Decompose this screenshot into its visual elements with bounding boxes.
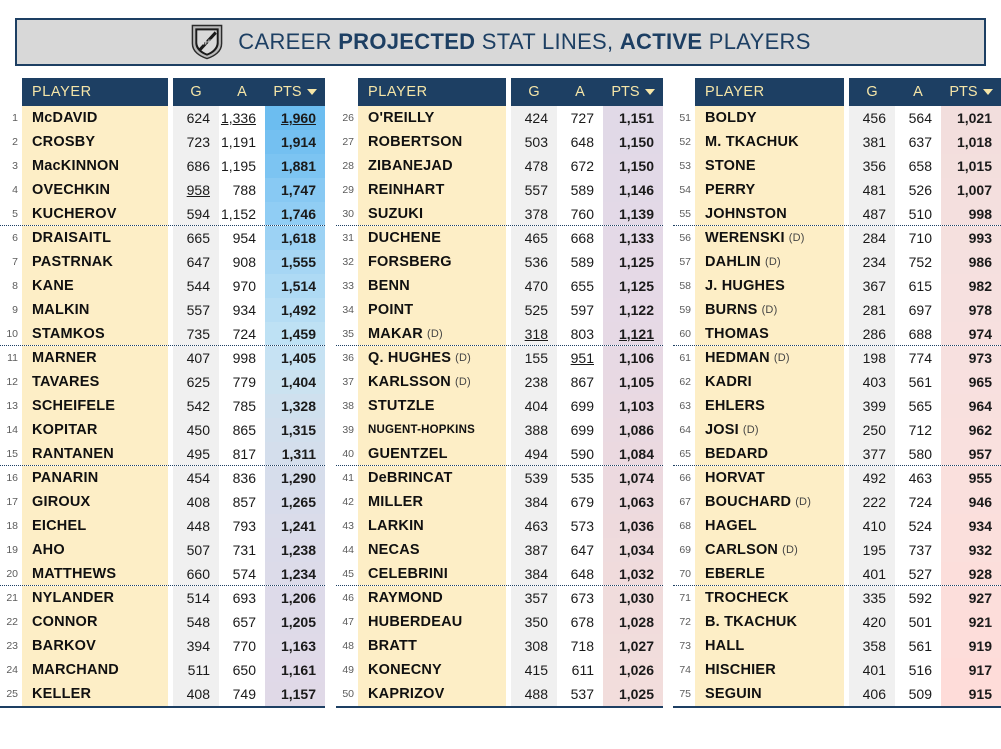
table-row[interactable]: 59BURNS(D)281697978 [673, 298, 1001, 322]
goals-value: 492 [863, 470, 886, 486]
points-cell: 1,007 [941, 178, 1001, 202]
player-name-cell[interactable]: HALL [695, 634, 844, 658]
column-header-g[interactable]: G [849, 84, 895, 100]
goals-value: 450 [187, 422, 210, 438]
table-row[interactable]: 15RANTANEN4958171,311 [0, 442, 325, 466]
goals-value: 958 [187, 182, 210, 198]
table-row[interactable]: 23BARKOV3947701,163 [0, 634, 325, 658]
table-row[interactable]: 11MARNER4079981,405 [0, 346, 325, 370]
points-value: 1,025 [619, 686, 654, 702]
stat-cells: 6861,1951,881 [173, 154, 325, 178]
table-row[interactable]: 20MATTHEWS6605741,234 [0, 562, 325, 586]
table-row[interactable]: 70EBERLE401527928 [673, 562, 1001, 586]
table-row[interactable]: 1McDAVID6241,3361,960 [0, 106, 325, 130]
table-row[interactable]: 33BENN4706551,125 [336, 274, 663, 298]
player-name-cell[interactable]: PERRY [695, 178, 844, 202]
points-value: 957 [969, 446, 992, 462]
row-rank: 72 [673, 610, 695, 634]
table-row[interactable]: 64JOSI(D)250712962 [673, 418, 1001, 442]
row-rank: 9 [0, 298, 22, 322]
table-row[interactable]: 48BRATT3087181,027 [336, 634, 663, 658]
goals-cell: 155 [511, 346, 557, 370]
player-name-cell[interactable]: BENN [358, 274, 506, 298]
table-row[interactable]: 68HAGEL410524934 [673, 514, 1001, 538]
player-name: BOLDY [705, 110, 757, 126]
assists-value: 770 [233, 638, 256, 654]
table-row[interactable]: 25KELLER4087491,157 [0, 682, 325, 706]
row-rank: 16 [0, 466, 22, 490]
player-name-cell[interactable]: STUTZLE [358, 394, 506, 418]
table-row[interactable]: 21NYLANDER5146931,206 [0, 586, 325, 610]
title-banner: NHL CAREER PROJECTED STAT LINES, ACTIVE … [15, 18, 986, 66]
table-row[interactable]: 51BOLDY4565641,021 [673, 106, 1001, 130]
assists-value: 803 [571, 326, 594, 342]
player-name-cell[interactable]: SEGUIN [695, 682, 844, 706]
stat-cells: 5146931,206 [173, 586, 325, 610]
caret-down-icon[interactable] [983, 89, 993, 95]
assists-cell: 785 [219, 394, 265, 418]
player-name-cell[interactable]: CONNOR [22, 610, 168, 634]
stat-cells: 195737932 [849, 538, 1001, 562]
assists-value: 712 [909, 422, 932, 438]
table-row[interactable]: 73HALL358561919 [673, 634, 1001, 658]
row-rank: 64 [673, 418, 695, 442]
points-cell: 1,747 [265, 178, 325, 202]
player-name-cell[interactable]: EHLERS [695, 394, 844, 418]
table-row[interactable]: 47HUBERDEAU3506781,028 [336, 610, 663, 634]
table-row[interactable]: 36Q. HUGHES(D)1559511,106 [336, 346, 663, 370]
player-name-cell[interactable]: Q. HUGHES(D) [358, 346, 506, 370]
player-name-cell[interactable]: RAYMOND [358, 586, 506, 610]
points-value: 1,106 [619, 350, 654, 366]
table-row[interactable]: 39NUGENT-HOPKINS3886991,086 [336, 418, 663, 442]
assists-value: 526 [909, 182, 932, 198]
player-name-cell[interactable]: KONECNY [358, 658, 506, 682]
assists-value: 463 [909, 470, 932, 486]
table-row[interactable]: 17GIROUX4088571,265 [0, 490, 325, 514]
table-row[interactable]: 8KANE5449701,514 [0, 274, 325, 298]
player-name: MARCHAND [32, 662, 119, 678]
assists-value: 561 [909, 638, 932, 654]
points-value: 1,459 [281, 326, 316, 342]
assists-cell: 697 [895, 298, 941, 322]
table-row[interactable]: 65BEDARD377580957 [673, 442, 1001, 466]
player-name-cell[interactable]: KARLSSON(D) [358, 370, 506, 394]
column-header-g[interactable]: G [173, 84, 219, 100]
player-name-cell[interactable]: DeBRINCAT [358, 466, 506, 490]
player-name: EBERLE [705, 566, 765, 582]
table-row[interactable]: 60THOMAS286688974 [673, 322, 1001, 346]
goals-cell: 594 [173, 202, 219, 225]
stat-cells: 9587881,747 [173, 178, 325, 202]
assists-cell: 712 [895, 418, 941, 442]
table-row[interactable]: 71TROCHECK335592927 [673, 586, 1001, 610]
player-name-cell[interactable]: HUBERDEAU [358, 610, 506, 634]
player-name-cell[interactable]: KAPRIZOV [358, 682, 506, 706]
column-header-g[interactable]: G [511, 84, 557, 100]
player-name-cell[interactable]: EBERLE [695, 562, 844, 585]
player-name: MALKIN [32, 302, 90, 318]
points-cell: 1,121 [603, 322, 663, 345]
assists-value: 524 [909, 518, 932, 534]
table-row[interactable]: 32FORSBERG5365891,125 [336, 250, 663, 274]
player-name: AHO [32, 542, 65, 558]
goals-cell: 335 [849, 586, 895, 610]
row-rank: 8 [0, 274, 22, 298]
player-name-cell[interactable]: KANE [22, 274, 168, 298]
goals-cell: 318 [511, 322, 557, 345]
table-row[interactable]: 55JOHNSTON487510998 [673, 202, 1001, 226]
assists-value: 592 [909, 590, 932, 606]
player-position: (D) [427, 328, 443, 340]
player-name: EICHEL [32, 518, 86, 534]
player-name: GIROUX [32, 494, 90, 510]
table-row[interactable]: 63EHLERS399565964 [673, 394, 1001, 418]
player-name-cell[interactable]: FORSBERG [358, 250, 506, 274]
player-name-cell[interactable]: B. TKACHUK [695, 610, 844, 634]
player-name-cell[interactable]: SUZUKI [358, 202, 506, 225]
table-row[interactable]: 3MacKINNON6861,1951,881 [0, 154, 325, 178]
player-name-cell[interactable]: KUCHEROV [22, 202, 168, 225]
table-row[interactable]: 44NECAS3876471,034 [336, 538, 663, 562]
player-name-cell[interactable]: DUCHENE [358, 226, 506, 250]
assists-cell: 524 [895, 514, 941, 538]
table-row[interactable]: 19AHO5077311,238 [0, 538, 325, 562]
goals-cell: 238 [511, 370, 557, 394]
row-rank: 42 [336, 490, 358, 514]
table-row[interactable]: 66HORVAT492463955 [673, 466, 1001, 490]
goals-cell: 381 [849, 130, 895, 154]
player-name-cell[interactable]: TROCHECK [695, 586, 844, 610]
player-name: NUGENT-HOPKINS [368, 424, 475, 436]
table-row[interactable]: 43LARKIN4635731,036 [336, 514, 663, 538]
player-name: HEDMAN [705, 350, 770, 366]
player-position: (D) [455, 352, 471, 364]
goals-value: 557 [525, 182, 548, 198]
points-cell: 1,086 [603, 418, 663, 442]
player-position: (D) [743, 424, 759, 436]
goals-value: 407 [187, 350, 210, 366]
points-value: 1,960 [281, 110, 316, 126]
table-header-row: PLAYERGAPTS [336, 78, 663, 106]
assists-value: 693 [233, 590, 256, 606]
column-header-a[interactable]: A [557, 84, 603, 100]
goals-value: 454 [187, 470, 210, 486]
column-header-player[interactable]: PLAYER [358, 78, 506, 106]
goals-value: 403 [863, 374, 886, 390]
assists-cell: 611 [557, 658, 603, 682]
player-name-cell[interactable]: M. TKACHUK [695, 130, 844, 154]
column-header-pts-label: PTS [273, 84, 301, 100]
points-value: 919 [969, 638, 992, 654]
points-value: 1,125 [619, 278, 654, 294]
stat-cells: 5449701,514 [173, 274, 325, 298]
points-value: 1,125 [619, 254, 654, 270]
goals-value: 415 [525, 662, 548, 678]
stat-cells: 420501921 [849, 610, 1001, 634]
assists-value: 565 [909, 398, 932, 414]
table-row[interactable]: 62KADRI403561965 [673, 370, 1001, 394]
player-name-cell[interactable]: MARNER [22, 346, 168, 370]
stat-headers: GAPTS [849, 78, 1001, 106]
player-name-cell[interactable]: KELLER [22, 682, 168, 706]
goals-cell: 495 [173, 442, 219, 465]
player-name-cell[interactable]: KADRI [695, 370, 844, 394]
table-row[interactable]: 14KOPITAR4508651,315 [0, 418, 325, 442]
assists-cell: 668 [557, 226, 603, 250]
column-header-pts[interactable]: PTS [603, 84, 663, 100]
player-name: DAHLIN [705, 254, 761, 270]
player-name-cell[interactable]: RANTANEN [22, 442, 168, 465]
player-name-cell[interactable]: PANARIN [22, 466, 168, 490]
player-name-cell[interactable]: LARKIN [358, 514, 506, 538]
player-name: KANE [32, 278, 74, 294]
points-value: 1,514 [281, 278, 316, 294]
player-name: KONECNY [368, 662, 442, 678]
assists-cell: 793 [219, 514, 265, 538]
table-row[interactable]: 67BOUCHARD(D)222724946 [673, 490, 1001, 514]
row-rank: 26 [336, 106, 358, 130]
player-name-cell[interactable]: JOHNSTON [695, 202, 844, 225]
table-row[interactable]: 29REINHART5575891,146 [336, 178, 663, 202]
player-name-cell[interactable]: MAKAR(D) [358, 322, 506, 345]
player-name-cell[interactable]: WERENSKI(D) [695, 226, 844, 250]
player-name: BURNS [705, 302, 758, 318]
player-name-cell[interactable]: MacKINNON [22, 154, 168, 178]
table-row[interactable]: 75SEGUIN406509915 [673, 682, 1001, 706]
points-cell: 1,103 [603, 394, 663, 418]
player-name-cell[interactable]: McDAVID [22, 106, 168, 130]
player-name-cell[interactable]: AHO [22, 538, 168, 562]
player-name-cell[interactable]: BRATT [358, 634, 506, 658]
stat-cells: 5427851,328 [173, 394, 325, 418]
assists-cell: 1,195 [219, 154, 265, 178]
points-cell: 928 [941, 562, 1001, 585]
player-name-cell[interactable]: BOLDY [695, 106, 844, 130]
column-header-a[interactable]: A [219, 84, 265, 100]
table-row[interactable]: 52M. TKACHUK3816371,018 [673, 130, 1001, 154]
player-name-cell[interactable]: STAMKOS [22, 322, 168, 345]
row-rank: 24 [0, 658, 22, 682]
player-name-cell[interactable]: TAVARES [22, 370, 168, 394]
points-cell: 919 [941, 634, 1001, 658]
points-cell: 1,105 [603, 370, 663, 394]
player-name-cell[interactable]: KOPITAR [22, 418, 168, 442]
player-name-cell[interactable]: MILLER [358, 490, 506, 514]
table-row[interactable]: 61HEDMAN(D)198774973 [673, 346, 1001, 370]
goals-value: 394 [187, 638, 210, 654]
row-rank: 62 [673, 370, 695, 394]
table-row[interactable]: 72B. TKACHUK420501921 [673, 610, 1001, 634]
column-header-player[interactable]: PLAYER [22, 78, 168, 106]
player-name-cell[interactable]: MATTHEWS [22, 562, 168, 585]
goals-value: 234 [863, 254, 886, 270]
goals-cell: 403 [849, 370, 895, 394]
table-row[interactable]: 2CROSBY7231,1911,914 [0, 130, 325, 154]
table-row[interactable]: 13SCHEIFELE5427851,328 [0, 394, 325, 418]
table-row[interactable]: 40GUENTZEL4945901,084 [336, 442, 663, 466]
table-row[interactable]: 50KAPRIZOV4885371,025 [336, 682, 663, 706]
player-name-cell[interactable]: SCHEIFELE [22, 394, 168, 418]
player-name-cell[interactable]: REINHART [358, 178, 506, 202]
assists-cell: 673 [557, 586, 603, 610]
table-row[interactable]: 46RAYMOND3576731,030 [336, 586, 663, 610]
player-name-cell[interactable]: POINT [358, 298, 506, 322]
table-row[interactable]: 57DAHLIN(D)234752986 [673, 250, 1001, 274]
table-row[interactable]: 6DRAISAITL6659541,618 [0, 226, 325, 250]
player-name-cell[interactable]: CELEBRINI [358, 562, 506, 585]
player-name-cell[interactable]: NECAS [358, 538, 506, 562]
table-row[interactable]: 28ZIBANEJAD4786721,150 [336, 154, 663, 178]
assists-cell: 934 [219, 298, 265, 322]
goals-value: 723 [187, 134, 210, 150]
stat-cells: 3506781,028 [511, 610, 663, 634]
points-value: 1,205 [281, 614, 316, 630]
caret-down-icon[interactable] [307, 89, 317, 95]
player-name-cell[interactable]: NUGENT-HOPKINS [358, 418, 506, 442]
table-row[interactable]: 31DUCHENE4656681,133 [336, 226, 663, 250]
column-header-player[interactable]: PLAYER [695, 78, 844, 106]
row-rank: 10 [0, 322, 22, 345]
table-row[interactable]: 41DeBRINCAT5395351,074 [336, 466, 663, 490]
table-row[interactable]: 74HISCHIER401516917 [673, 658, 1001, 682]
stat-cells: 3816371,018 [849, 130, 1001, 154]
goals-value: 384 [525, 566, 548, 582]
player-name-cell[interactable]: HORVAT [695, 466, 844, 490]
player-name-cell[interactable]: BARKOV [22, 634, 168, 658]
row-rank: 18 [0, 514, 22, 538]
table-row[interactable]: 12TAVARES6257791,404 [0, 370, 325, 394]
table-row[interactable]: 7PASTRNAK6479081,555 [0, 250, 325, 274]
player-name-cell[interactable]: DAHLIN(D) [695, 250, 844, 274]
player-name-cell[interactable]: CROSBY [22, 130, 168, 154]
points-value: 965 [969, 374, 992, 390]
column-header-pts[interactable]: PTS [941, 84, 1001, 100]
table-header-row: PLAYERGAPTS [673, 78, 1001, 106]
player-name-cell[interactable]: JOSI(D) [695, 418, 844, 442]
points-cell: 1,459 [265, 322, 325, 345]
assists-value: 647 [571, 542, 594, 558]
table-row[interactable]: 18EICHEL4487931,241 [0, 514, 325, 538]
table-row[interactable]: 54PERRY4815261,007 [673, 178, 1001, 202]
player-name-cell[interactable]: GUENTZEL [358, 442, 506, 465]
player-name: JOHNSTON [705, 206, 787, 222]
table-row[interactable]: 10STAMKOS7357241,459 [0, 322, 325, 346]
goals-cell: 407 [173, 346, 219, 370]
table-row[interactable]: 26O'REILLY4247271,151 [336, 106, 663, 130]
rank-header-spacer [336, 78, 358, 106]
table-row[interactable]: 42MILLER3846791,063 [336, 490, 663, 514]
points-value: 1,027 [619, 638, 654, 654]
assists-cell: 693 [219, 586, 265, 610]
goals-value: 735 [187, 326, 210, 342]
player-name-cell[interactable]: STONE [695, 154, 844, 178]
points-cell: 962 [941, 418, 1001, 442]
player-name: KOPITAR [32, 422, 98, 438]
column-header-pts[interactable]: PTS [265, 84, 325, 100]
player-name-cell[interactable]: ROBERTSON [358, 130, 506, 154]
assists-value: 648 [571, 566, 594, 582]
table-row[interactable]: 35MAKAR(D)3188031,121 [336, 322, 663, 346]
player-name-cell[interactable]: HEDMAN(D) [695, 346, 844, 370]
assists-value: 760 [571, 206, 594, 222]
player-name-cell[interactable]: BEDARD [695, 442, 844, 465]
player-name-cell[interactable]: MALKIN [22, 298, 168, 322]
player-name-cell[interactable]: THOMAS [695, 322, 844, 345]
player-name-cell[interactable]: BURNS(D) [695, 298, 844, 322]
assists-cell: 672 [557, 154, 603, 178]
table-row[interactable]: 58J. HUGHES367615982 [673, 274, 1001, 298]
player-name-cell[interactable]: PASTRNAK [22, 250, 168, 274]
table-row[interactable]: 16PANARIN4548361,290 [0, 466, 325, 490]
player-name: DUCHENE [368, 230, 441, 246]
player-name-cell[interactable]: EICHEL [22, 514, 168, 538]
player-name-cell[interactable]: ZIBANEJAD [358, 154, 506, 178]
assists-value: 668 [571, 230, 594, 246]
player-name-cell[interactable]: HAGEL [695, 514, 844, 538]
player-name: TAVARES [32, 374, 99, 390]
player-name: M. TKACHUK [705, 134, 799, 150]
player-name-cell[interactable]: J. HUGHES [695, 274, 844, 298]
table-row[interactable]: 24MARCHAND5116501,161 [0, 658, 325, 682]
table-row[interactable]: 4OVECHKIN9587881,747 [0, 178, 325, 202]
player-name-cell[interactable]: CARLSON(D) [695, 538, 844, 562]
table-row[interactable]: 69CARLSON(D)195737932 [673, 538, 1001, 562]
assists-value: 597 [571, 302, 594, 318]
player-name-cell[interactable]: O'REILLY [358, 106, 506, 130]
player-name-cell[interactable]: DRAISAITL [22, 226, 168, 250]
player-name: EHLERS [705, 398, 765, 414]
title-segment-active: ACTIVE [620, 29, 702, 54]
table-row[interactable]: 56WERENSKI(D)284710993 [673, 226, 1001, 250]
points-value: 917 [969, 662, 992, 678]
points-cell: 1,150 [603, 154, 663, 178]
assists-cell: 770 [219, 634, 265, 658]
page-root: NHL CAREER PROJECTED STAT LINES, ACTIVE … [0, 0, 1001, 749]
table-row[interactable]: 38STUTZLE4046991,103 [336, 394, 663, 418]
player-name-cell[interactable]: HISCHIER [695, 658, 844, 682]
player-name: POINT [368, 302, 413, 318]
table-row[interactable]: 53STONE3566581,015 [673, 154, 1001, 178]
stat-cells: 3188031,121 [511, 322, 663, 345]
table-row[interactable]: 37KARLSSON(D)2388671,105 [336, 370, 663, 394]
player-name-cell[interactable]: BOUCHARD(D) [695, 490, 844, 514]
table-row[interactable]: 30SUZUKI3787601,139 [336, 202, 663, 226]
player-name-cell[interactable]: GIROUX [22, 490, 168, 514]
table-row[interactable]: 34POINT5255971,122 [336, 298, 663, 322]
table-row[interactable]: 5KUCHEROV5941,1521,746 [0, 202, 325, 226]
table-row[interactable]: 45CELEBRINI3846481,032 [336, 562, 663, 586]
table-row[interactable]: 27ROBERTSON5036481,150 [336, 130, 663, 154]
player-name-cell[interactable]: NYLANDER [22, 586, 168, 610]
assists-value: 793 [233, 518, 256, 534]
player-name-cell[interactable]: MARCHAND [22, 658, 168, 682]
row-rank: 19 [0, 538, 22, 562]
table-row[interactable]: 49KONECNY4156111,026 [336, 658, 663, 682]
assists-cell: 597 [557, 298, 603, 322]
stat-cells: 4565641,021 [849, 106, 1001, 130]
caret-down-icon[interactable] [645, 89, 655, 95]
column-header-a[interactable]: A [895, 84, 941, 100]
goals-cell: 367 [849, 274, 895, 298]
table-row[interactable]: 9MALKIN5579341,492 [0, 298, 325, 322]
row-rank: 35 [336, 322, 358, 345]
player-name-cell[interactable]: OVECHKIN [22, 178, 168, 202]
row-rank: 41 [336, 466, 358, 490]
table-row[interactable]: 22CONNOR5486571,205 [0, 610, 325, 634]
points-value: 1,150 [619, 158, 654, 174]
stat-cells: 250712962 [849, 418, 1001, 442]
